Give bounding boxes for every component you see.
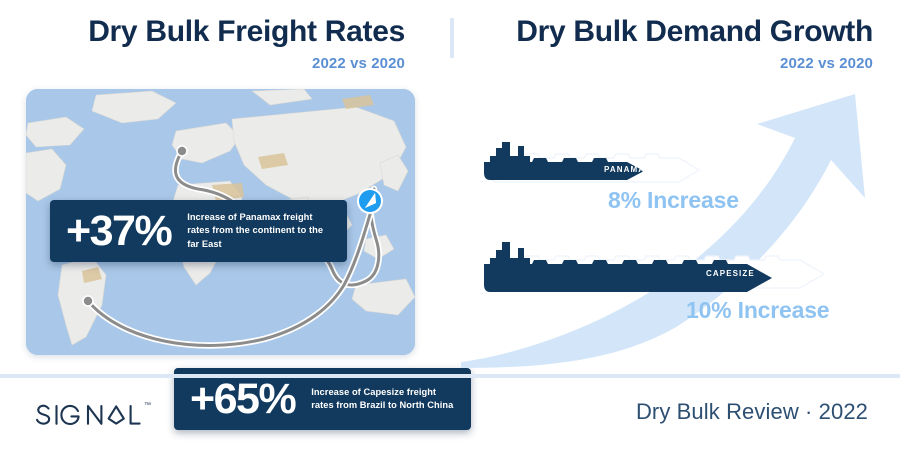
capesize-label: CAPESIZE (706, 269, 755, 278)
growth-arrow-icon (451, 86, 900, 368)
right-panel-subtitle: 2022 vs 2020 (780, 56, 873, 71)
right-panel-title: Dry Bulk Demand Growth (516, 17, 873, 47)
footer: ™ Dry Bulk Review · 2022 (0, 378, 900, 450)
callout-panamax-rate[interactable]: +37% Increase of Panamax freight rates f… (50, 200, 347, 262)
signal-wordmark-icon (34, 401, 142, 429)
demand-growth-panel: PANAMAX 8% Increase CAPESIZE 10% Increas… (451, 86, 900, 368)
header-band: Dry Bulk Freight Rates 2022 vs 2020 Dry … (0, 0, 900, 86)
capesize-increase-value: 10% Increase (686, 299, 829, 322)
callout-panamax-percent: +37% (66, 210, 171, 253)
footer-caption: Dry Bulk Review · 2022 (636, 401, 868, 423)
capesize-ship-icon (484, 238, 884, 294)
left-panel-subtitle: 2022 vs 2020 (312, 56, 405, 71)
panamax-label: PANAMAX (604, 165, 652, 174)
panamax-ship-icon (484, 138, 884, 188)
right-panel-header: Dry Bulk Demand Growth 2022 vs 2020 (451, 0, 900, 86)
freight-rates-map-panel: +37% Increase of Panamax freight rates f… (26, 89, 415, 355)
left-panel-title: Dry Bulk Freight Rates (88, 17, 405, 47)
left-panel-header: Dry Bulk Freight Rates 2022 vs 2020 (0, 0, 451, 86)
panamax-increase-value: 8% Increase (608, 189, 739, 212)
trademark-mark: ™ (144, 402, 151, 409)
panamax-ship-bar[interactable]: PANAMAX (484, 138, 884, 188)
callout-panamax-description: Increase of Panamax freight rates from t… (187, 211, 335, 251)
signal-logo[interactable]: ™ (34, 401, 151, 429)
capesize-ship-bar[interactable]: CAPESIZE (484, 238, 884, 294)
